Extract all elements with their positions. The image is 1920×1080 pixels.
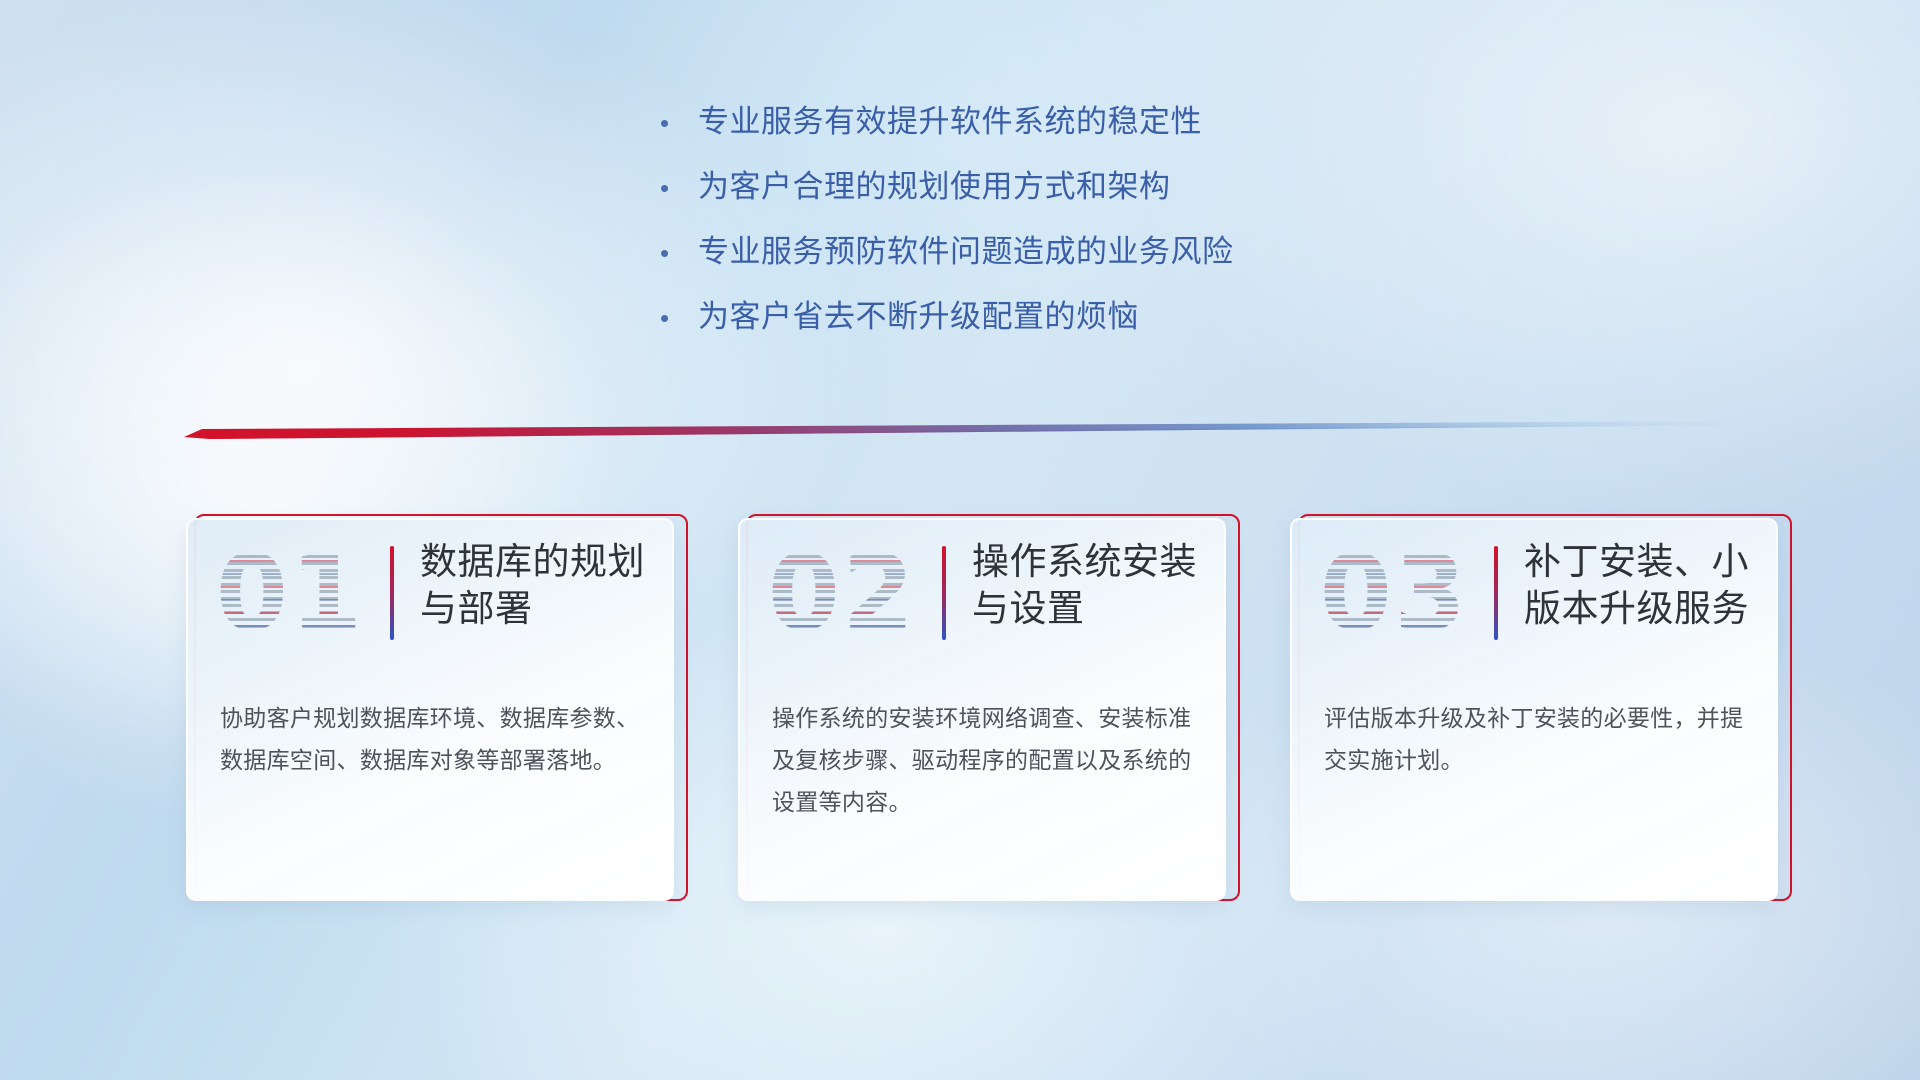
card-description: 协助客户规划数据库环境、数据库参数、数据库空间、数据库对象等部署落地。: [220, 698, 644, 782]
bullet-text: 为客户省去不断升级配置的烦恼: [698, 300, 1139, 334]
card-panel: 03 03 补丁安装、小版本升级服务 评估版本升级及补丁安装的必要性，并提交实施…: [1290, 518, 1778, 901]
bullet-dot-icon: •: [660, 175, 698, 201]
slide-canvas: • 专业服务有效提升软件系统的稳定性 • 为客户合理的规划使用方式和架构 • 专…: [0, 0, 1920, 1080]
divider-shape-icon: [184, 420, 1754, 442]
card-divider-bar-icon: [1494, 546, 1498, 640]
bullet-text: 专业服务有效提升软件系统的稳定性: [698, 105, 1202, 139]
card-divider-bar-icon: [390, 546, 394, 640]
service-card-03[interactable]: 03 03 补丁安装、小版本升级服务 评估版本升级及补丁安装的必要性，并提交实施…: [1290, 518, 1784, 905]
card-title: 补丁安装、小版本升级服务: [1524, 538, 1768, 633]
card-title: 操作系统安装与设置: [972, 538, 1216, 633]
card-number-watermark: 03: [1314, 534, 1474, 652]
card-panel: 01 01 数据库的规划与部署 协助客户规划数据库环境、数据库参数、数据库空间、…: [186, 518, 674, 901]
card-number-watermark: 02: [762, 534, 922, 652]
bullet-text: 为客户合理的规划使用方式和架构: [698, 170, 1171, 204]
bullet-text: 专业服务预防软件问题造成的业务风险: [698, 235, 1234, 269]
service-card-02[interactable]: 02 02 操作系统安装与设置 操作系统的安装环境网络调查、安装标准及复核步骤、…: [738, 518, 1232, 905]
card-title: 数据库的规划与部署: [420, 538, 664, 633]
card-panel: 02 02 操作系统安装与设置 操作系统的安装环境网络调查、安装标准及复核步骤、…: [738, 518, 1226, 901]
bullet-item: • 为客户省去不断升级配置的烦恼: [660, 300, 1234, 334]
card-description: 操作系统的安装环境网络调查、安装标准及复核步骤、驱动程序的配置以及系统的设置等内…: [772, 698, 1196, 824]
bullet-dot-icon: •: [660, 240, 698, 266]
card-header: 03 03 补丁安装、小版本升级服务: [1292, 520, 1776, 670]
bullet-item: • 为客户合理的规划使用方式和架构: [660, 170, 1234, 204]
service-card-01[interactable]: 01 01 数据库的规划与部署 协助客户规划数据库环境、数据库参数、数据库空间、…: [186, 518, 680, 905]
card-divider-bar-icon: [942, 546, 946, 640]
bullet-dot-icon: •: [660, 110, 698, 136]
card-header: 02 02 操作系统安装与设置: [740, 520, 1224, 670]
bullet-dot-icon: •: [660, 305, 698, 331]
benefits-bullet-list: • 专业服务有效提升软件系统的稳定性 • 为客户合理的规划使用方式和架构 • 专…: [660, 105, 1234, 365]
bullet-item: • 专业服务有效提升软件系统的稳定性: [660, 105, 1234, 139]
card-header: 01 01 数据库的规划与部署: [188, 520, 672, 670]
service-card-row: 01 01 数据库的规划与部署 协助客户规划数据库环境、数据库参数、数据库空间、…: [0, 518, 1920, 905]
card-number-watermark: 01: [210, 534, 370, 652]
section-divider: [184, 420, 1754, 442]
bullet-item: • 专业服务预防软件问题造成的业务风险: [660, 235, 1234, 269]
card-description: 评估版本升级及补丁安装的必要性，并提交实施计划。: [1324, 698, 1748, 782]
